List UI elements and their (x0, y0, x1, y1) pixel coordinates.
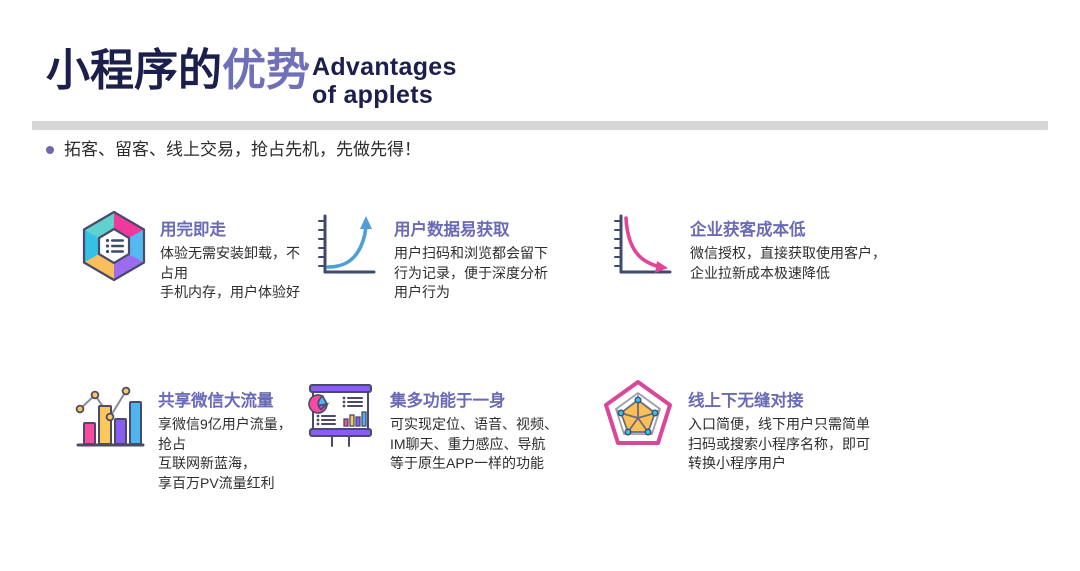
page-title-en: Advantages of applets (312, 53, 457, 109)
feature-desc-4: 享微信9亿用户流量，抢占 互联网新蓝海， 享百万PV流量红利 (158, 415, 300, 493)
feature-item-5: 集多功能于一身 可实现定位、语音、视频、 IM聊天、重力感应、导航 等于原生AP… (300, 374, 600, 504)
feature-desc-3: 微信授权，直接获取使用客户， 企业拉新成本极速降低 (690, 244, 886, 283)
radar-pentagon-chart-icon (600, 374, 676, 454)
feature-desc-2: 用户扫码和浏览都会留下 行为记录，便于深度分析 用户行为 (394, 244, 548, 303)
bullet-dot-icon (46, 146, 54, 154)
feature-item-2: 用户数据易获取 用户扫码和浏览都会留下 行为记录，便于深度分析 用户行为 (300, 206, 600, 374)
subtitle-text: 拓客、留客、线上交易，抢占先机，先做先得！ (64, 138, 421, 162)
feature-grid: 用完即走 体验无需安装卸载，不占用 手机内存，用户体验好 (0, 206, 1080, 504)
feature-item-4: 共享微信大流量 享微信9亿用户流量，抢占 互联网新蓝海， 享百万PV流量红利 (0, 374, 300, 504)
feature-desc-6: 入口简便，线下用户只需简单 扫码或搜索小程序名称，即可 转换小程序用户 (688, 415, 870, 474)
decay-curve-chart-icon (606, 206, 682, 286)
feature-title-6: 线上下无缝对接 (688, 390, 870, 412)
hexagon-list-icon (76, 206, 152, 286)
feature-text-1: 用完即走 体验无需安装卸载，不占用 手机内存，用户体验好 (152, 206, 300, 303)
page-title: 小程序的优势 (46, 44, 310, 98)
bar-line-chart-icon (70, 374, 146, 454)
feature-desc-5: 可实现定位、语音、视频、 IM聊天、重力感应、导航 等于原生APP一样的功能 (390, 415, 558, 474)
feature-text-5: 集多功能于一身 可实现定位、语音、视频、 IM聊天、重力感应、导航 等于原生AP… (378, 374, 558, 474)
page-title-en-line2: of applets (312, 81, 457, 109)
presentation-board-icon (302, 374, 378, 454)
growth-curve-chart-icon (310, 206, 386, 286)
header-divider (32, 121, 1048, 130)
feature-text-2: 用户数据易获取 用户扫码和浏览都会留下 行为记录，便于深度分析 用户行为 (386, 206, 548, 303)
page-title-cn-accent: 优势 (222, 46, 310, 95)
feature-title-3: 企业获客成本低 (690, 219, 886, 241)
feature-row-2: 共享微信大流量 享微信9亿用户流量，抢占 互联网新蓝海， 享百万PV流量红利 (0, 374, 1080, 504)
feature-title-2: 用户数据易获取 (394, 219, 548, 241)
page-title-en-line1: Advantages (312, 53, 457, 81)
feature-title-1: 用完即走 (160, 219, 300, 241)
feature-text-3: 企业获客成本低 微信授权，直接获取使用客户， 企业拉新成本极速降低 (682, 206, 886, 283)
feature-item-6: 线上下无缝对接 入口简便，线下用户只需简单 扫码或搜索小程序名称，即可 转换小程… (600, 374, 1000, 504)
feature-text-4: 共享微信大流量 享微信9亿用户流量，抢占 互联网新蓝海， 享百万PV流量红利 (146, 374, 300, 493)
feature-title-4: 共享微信大流量 (158, 390, 300, 412)
subtitle-row: 拓客、留客、线上交易，抢占先机，先做先得！ (46, 138, 421, 162)
feature-item-3: 企业获客成本低 微信授权，直接获取使用客户， 企业拉新成本极速降低 (600, 206, 1000, 374)
feature-text-6: 线上下无缝对接 入口简便，线下用户只需简单 扫码或搜索小程序名称，即可 转换小程… (676, 374, 870, 474)
feature-row-1: 用完即走 体验无需安装卸载，不占用 手机内存，用户体验好 (0, 206, 1080, 374)
page-title-cn-dark: 小程序的 (46, 46, 222, 95)
feature-title-5: 集多功能于一身 (390, 390, 558, 412)
page-header: 小程序的优势 Advantages of applets (46, 44, 457, 109)
feature-item-1: 用完即走 体验无需安装卸载，不占用 手机内存，用户体验好 (0, 206, 300, 374)
feature-desc-1: 体验无需安装卸载，不占用 手机内存，用户体验好 (160, 244, 300, 303)
